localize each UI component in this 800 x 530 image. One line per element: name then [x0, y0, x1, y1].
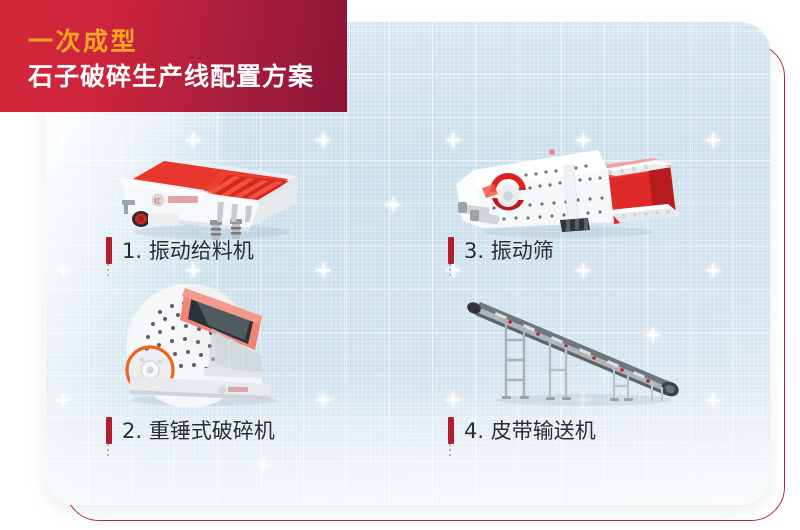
svg-text:红: 红 [154, 196, 161, 205]
label-dot-trail [107, 444, 110, 459]
item-label-text: 4. 皮带输送机 [464, 415, 596, 445]
title-banner: 一次成型 石子破碎生产线配置方案 [0, 0, 347, 112]
banner-headline-primary: 一次成型 [28, 22, 138, 58]
item-label-1: 1. 振动给料机 [106, 235, 254, 265]
item-label-4: 4. 皮带输送机 [448, 415, 596, 445]
item-label-3: 3. 振动筛 [448, 235, 554, 265]
label-accent-bar [448, 237, 454, 264]
label-accent-bar [106, 237, 112, 264]
label-dot-trail [449, 264, 452, 279]
item-label-text: 2. 重锤式破碎机 [122, 415, 275, 445]
machine-image-vibrating-feeder: 红 [100, 128, 310, 240]
banner-headline-secondary: 石子破碎生产线配置方案 [28, 57, 314, 93]
label-accent-bar [106, 417, 112, 444]
machine-image-hammer-crusher [112, 272, 297, 407]
poster-stage: 红 [0, 0, 800, 530]
label-accent-bar [448, 417, 454, 444]
item-label-text: 1. 振动给料机 [122, 235, 254, 265]
machine-image-belt-conveyor [462, 282, 707, 407]
machine-image-vibrating-screen [448, 128, 686, 240]
item-label-text: 3. 振动筛 [464, 235, 554, 265]
label-dot-trail [449, 444, 452, 459]
item-label-2: 2. 重锤式破碎机 [106, 415, 275, 445]
label-dot-trail [107, 264, 110, 279]
